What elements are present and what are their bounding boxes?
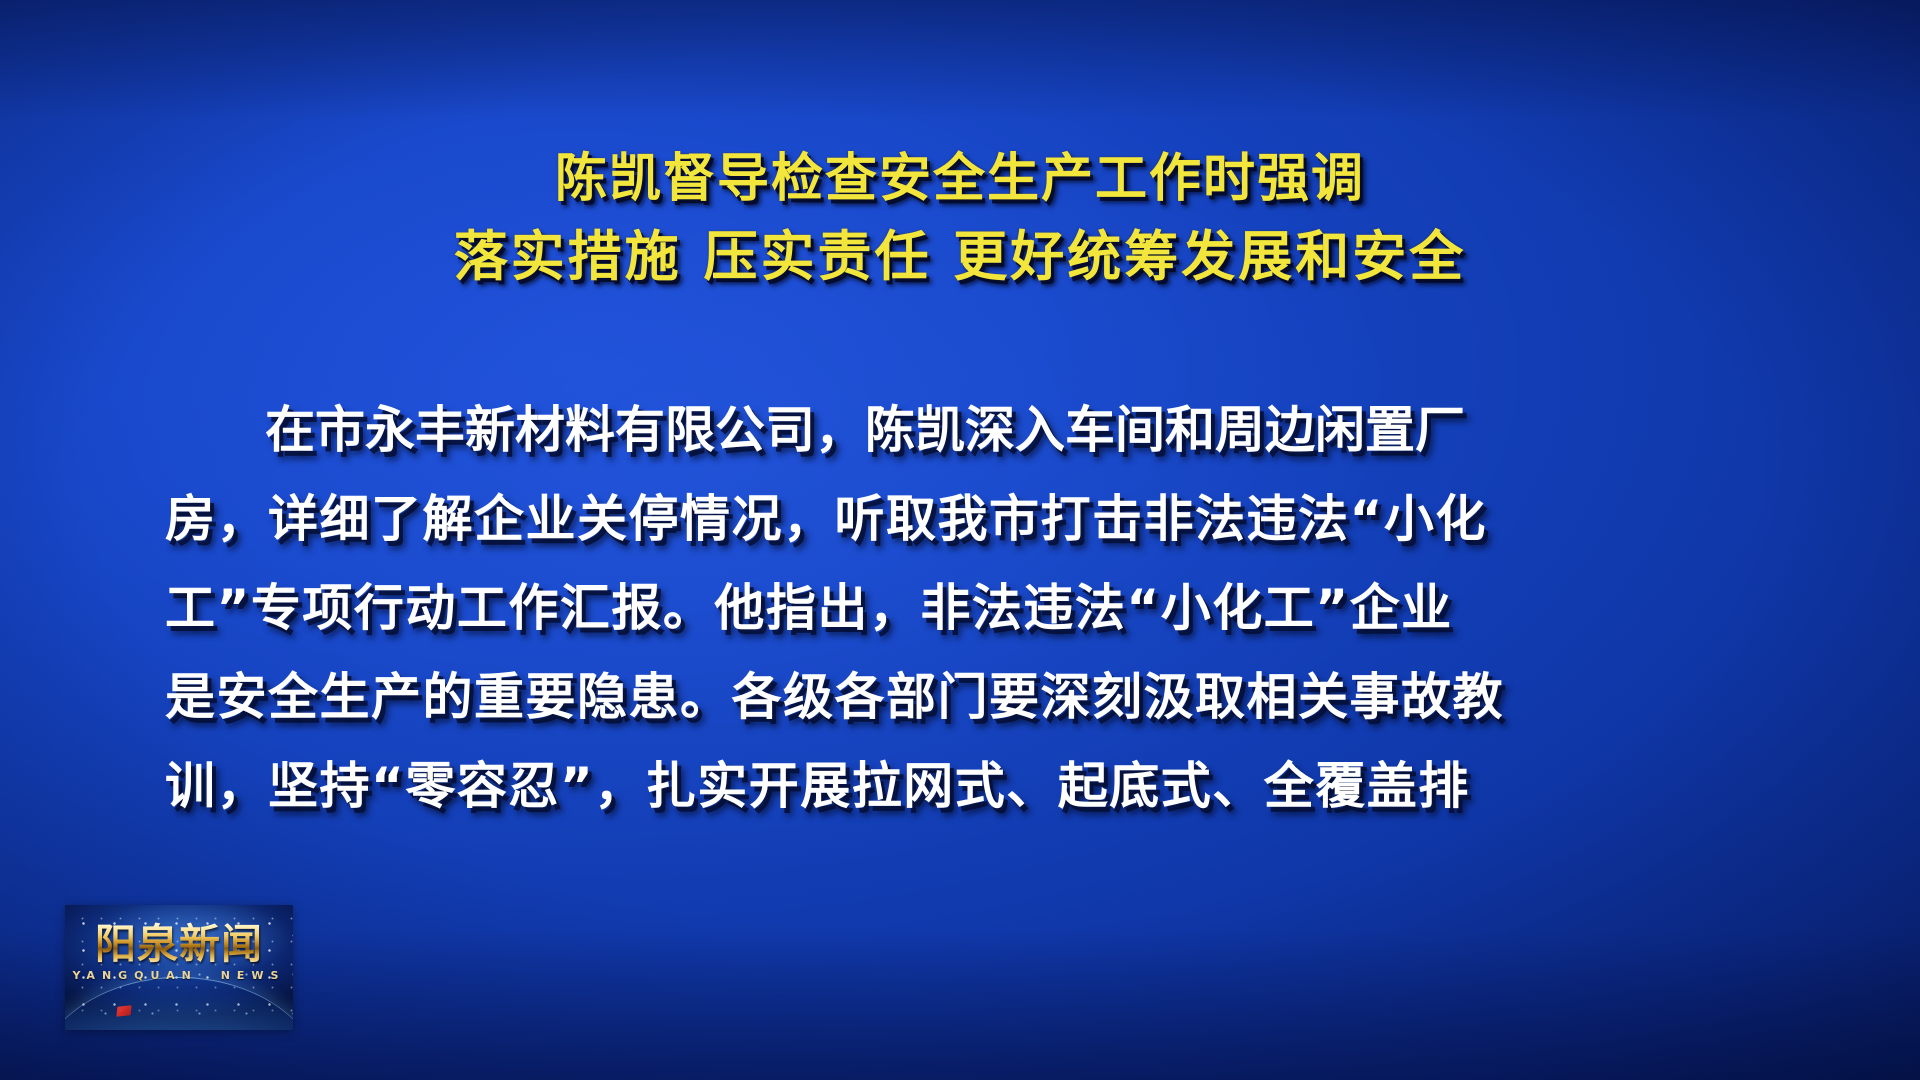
body-line-2: 房，详细了解企业关停情况，听取我市打击非法违法“小化 <box>165 475 1419 564</box>
content-layer: 陈凯督导检查安全生产工作时强调 落实措施 压实责任 更好统筹发展和安全 在市永丰… <box>0 0 1920 1080</box>
logo-name-en-spacer <box>198 969 221 982</box>
body-line-1: 在市永丰新材料有限公司，陈凯深入车间和周边闲置厂 <box>165 386 1419 475</box>
channel-logo-bug: 阳泉新闻 YANGQUAN NEWS <box>65 905 293 1030</box>
headline-block: 陈凯督导检查安全生产工作时强调 落实措施 压实责任 更好统筹发展和安全 <box>0 140 1920 296</box>
body-line-4: 是安全生产的重要隐患。各级各部门要深刻汲取相关事故教 <box>165 653 1419 742</box>
flag-icon <box>116 1005 131 1016</box>
body-text-block: 在市永丰新材料有限公司，陈凯深入车间和周边闲置厂 房，详细了解企业关停情况，听取… <box>165 386 1419 831</box>
body-line-3: 工”专项行动工作汇报。他指出，非法违法“小化工”企业 <box>165 564 1419 653</box>
headline-line-1: 陈凯督导检查安全生产工作时强调 <box>0 140 1920 218</box>
logo-name-en-right: NEWS <box>221 969 286 982</box>
body-line-5: 训，坚持“零容忍”，扎实开展拉网式、起底式、全覆盖排 <box>165 742 1419 831</box>
logo-name-cn: 阳泉新闻 <box>65 921 293 967</box>
logo-name-en-left: YANGQUAN <box>73 969 198 982</box>
logo-text: 阳泉新闻 YANGQUAN NEWS <box>65 921 293 982</box>
logo-name-en: YANGQUAN NEWS <box>65 969 293 982</box>
broadcast-screen: 陈凯督导检查安全生产工作时强调 落实措施 压实责任 更好统筹发展和安全 在市永丰… <box>0 0 1920 1080</box>
headline-line-2: 落实措施 压实责任 更好统筹发展和安全 <box>0 218 1920 296</box>
